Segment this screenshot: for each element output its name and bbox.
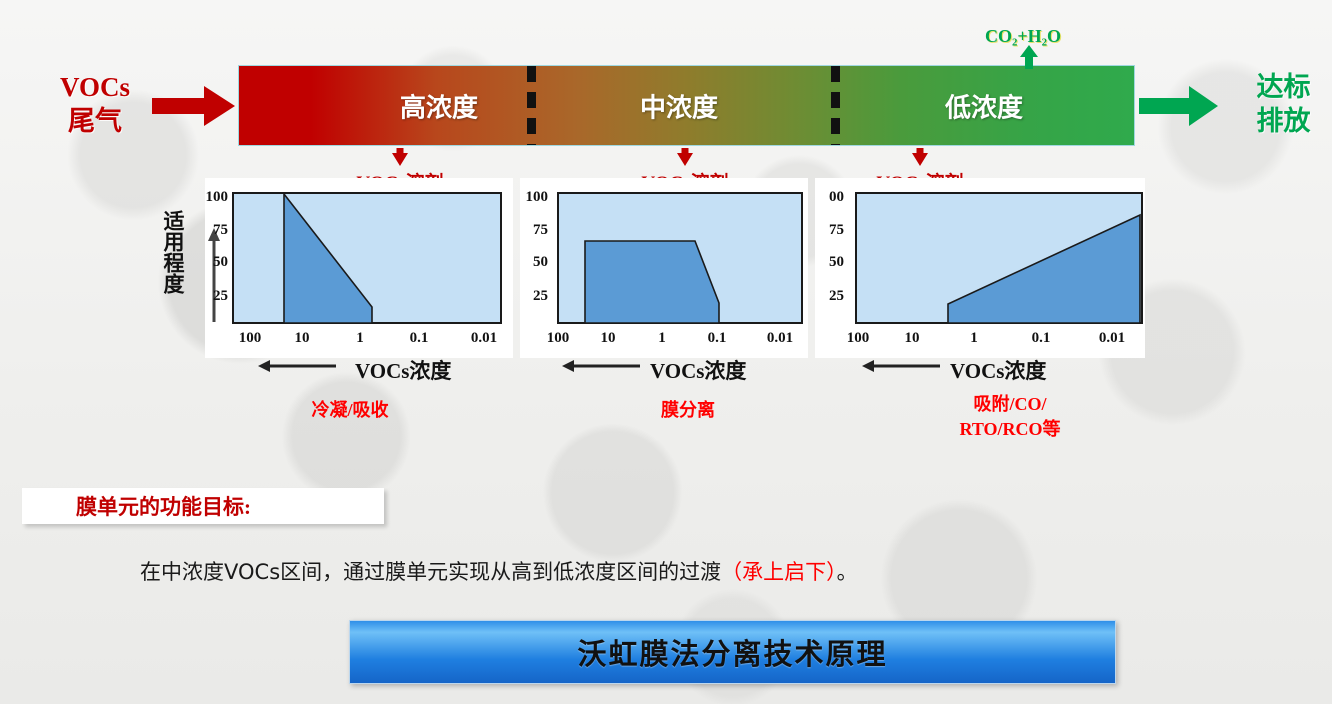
outlet-arrow-icon — [1139, 86, 1219, 126]
chart1-method-label: 冷凝/吸收 — [260, 398, 440, 423]
chart3-method-label: 吸附/CO/ RTO/RCO等 — [910, 392, 1110, 442]
band-label-low: 低浓度 — [869, 87, 1099, 124]
chart3-xtick-2: 1 — [962, 330, 986, 347]
chart3-xlabel: VOCs浓度 — [950, 355, 1046, 385]
chart1-plot — [232, 192, 504, 327]
chart2-plot — [557, 192, 805, 327]
chart2-xaxis-direction-arrow-icon — [562, 358, 642, 374]
chart1-ytick-100: 100 — [192, 189, 228, 206]
outlet-label-line1: 达标 — [1236, 70, 1331, 104]
band-divider-2 — [831, 66, 840, 145]
goal-body-before: 在中浓度VOCs区间，通过膜单元实现从高到低浓度区间的过渡 — [140, 560, 721, 584]
chart3-xtick-0: 100 — [838, 330, 878, 347]
band-divider-1 — [527, 66, 536, 145]
band-label-high: 高浓度 — [329, 87, 549, 124]
chart1-xtick-4: 0.01 — [460, 330, 508, 347]
chart2-xtick-0: 100 — [538, 330, 578, 347]
chart1-xaxis-direction-arrow-icon — [258, 358, 338, 374]
bottom-banner: 沃虹膜法分离技术原理 — [349, 620, 1116, 684]
chart2-xlabel: VOCs浓度 — [650, 355, 746, 385]
chart1-xtick-2: 1 — [348, 330, 372, 347]
band-label-medium: 中浓度 — [569, 87, 789, 124]
chart3-plot — [855, 192, 1145, 327]
chart3-ytick-100: 00 — [808, 189, 844, 206]
solvent-down-arrow-icon-3 — [820, 148, 1020, 166]
chart2-xtick-1: 10 — [592, 330, 624, 347]
chart2-xtick-2: 1 — [650, 330, 674, 347]
co2-up-arrow-icon — [1019, 45, 1039, 69]
chart1-xtick-3: 0.1 — [400, 330, 438, 347]
chart3-method-line2: RTO/RCO等 — [910, 417, 1110, 442]
chart3-ytick-25: 25 — [808, 288, 844, 305]
concentration-gradient-bar: 高浓度 中浓度 低浓度 — [238, 65, 1135, 146]
chart1-ytick-25: 25 — [192, 288, 228, 305]
solvent-down-arrow-icon-2 — [585, 148, 785, 166]
goal-body-highlight: （承上启下） — [721, 560, 837, 584]
chart2-ytick-25: 25 — [512, 288, 548, 305]
chart1-ytick-75: 75 — [192, 222, 228, 239]
chart1-ylabel: 适用程度 — [160, 210, 186, 300]
chart3-ytick-50: 50 — [808, 254, 844, 271]
inlet-label-line1: VOCs — [40, 70, 150, 104]
chart3-xtick-1: 10 — [896, 330, 928, 347]
outlet-label: 达标 排放 — [1236, 70, 1331, 138]
inlet-label: VOCs 尾气 — [40, 70, 150, 138]
goal-body: 在中浓度VOCs区间，通过膜单元实现从高到低浓度区间的过渡（承上启下）。 — [140, 556, 858, 586]
slide-background: VOCs 尾气 高浓度 中浓度 低浓度 CO₂+H₂O 达标 排放 VOCs溶剂… — [0, 0, 1332, 704]
co2-h2o-label: CO₂+H₂O — [985, 26, 1061, 47]
goal-heading-box: 膜单元的功能目标: — [22, 488, 384, 524]
chart2-xtick-4: 0.01 — [756, 330, 804, 347]
inlet-label-line2: 尾气 — [40, 104, 150, 138]
inlet-arrow-icon — [152, 86, 236, 126]
chart1-yaxis-arrow-icon — [207, 228, 221, 322]
chart1-xtick-0: 100 — [230, 330, 270, 347]
chart2-ytick-100: 100 — [512, 189, 548, 206]
chart2-ytick-50: 50 — [512, 254, 548, 271]
chart1-ytick-50: 50 — [192, 254, 228, 271]
banner-title: 沃虹膜法分离技术原理 — [577, 631, 887, 673]
chart3-method-line1: 吸附/CO/ — [910, 392, 1110, 417]
chart3-xtick-4: 0.01 — [1088, 330, 1136, 347]
chart2-xtick-3: 0.1 — [698, 330, 736, 347]
goal-body-after: 。 — [837, 560, 858, 584]
chart1-xlabel: VOCs浓度 — [355, 355, 451, 385]
chart1-xtick-1: 10 — [286, 330, 318, 347]
chart2-ytick-75: 75 — [512, 222, 548, 239]
chart3-xtick-3: 0.1 — [1022, 330, 1060, 347]
outlet-label-line2: 排放 — [1236, 104, 1331, 138]
chart2-method-label: 膜分离 — [608, 398, 768, 423]
goal-heading-text: 膜单元的功能目标: — [76, 491, 251, 521]
chart3-ytick-75: 75 — [808, 222, 844, 239]
chart3-xaxis-direction-arrow-icon — [862, 358, 942, 374]
chart1-ylabel-text: 适用程度 — [160, 210, 186, 294]
solvent-down-arrow-icon-1 — [300, 148, 500, 166]
